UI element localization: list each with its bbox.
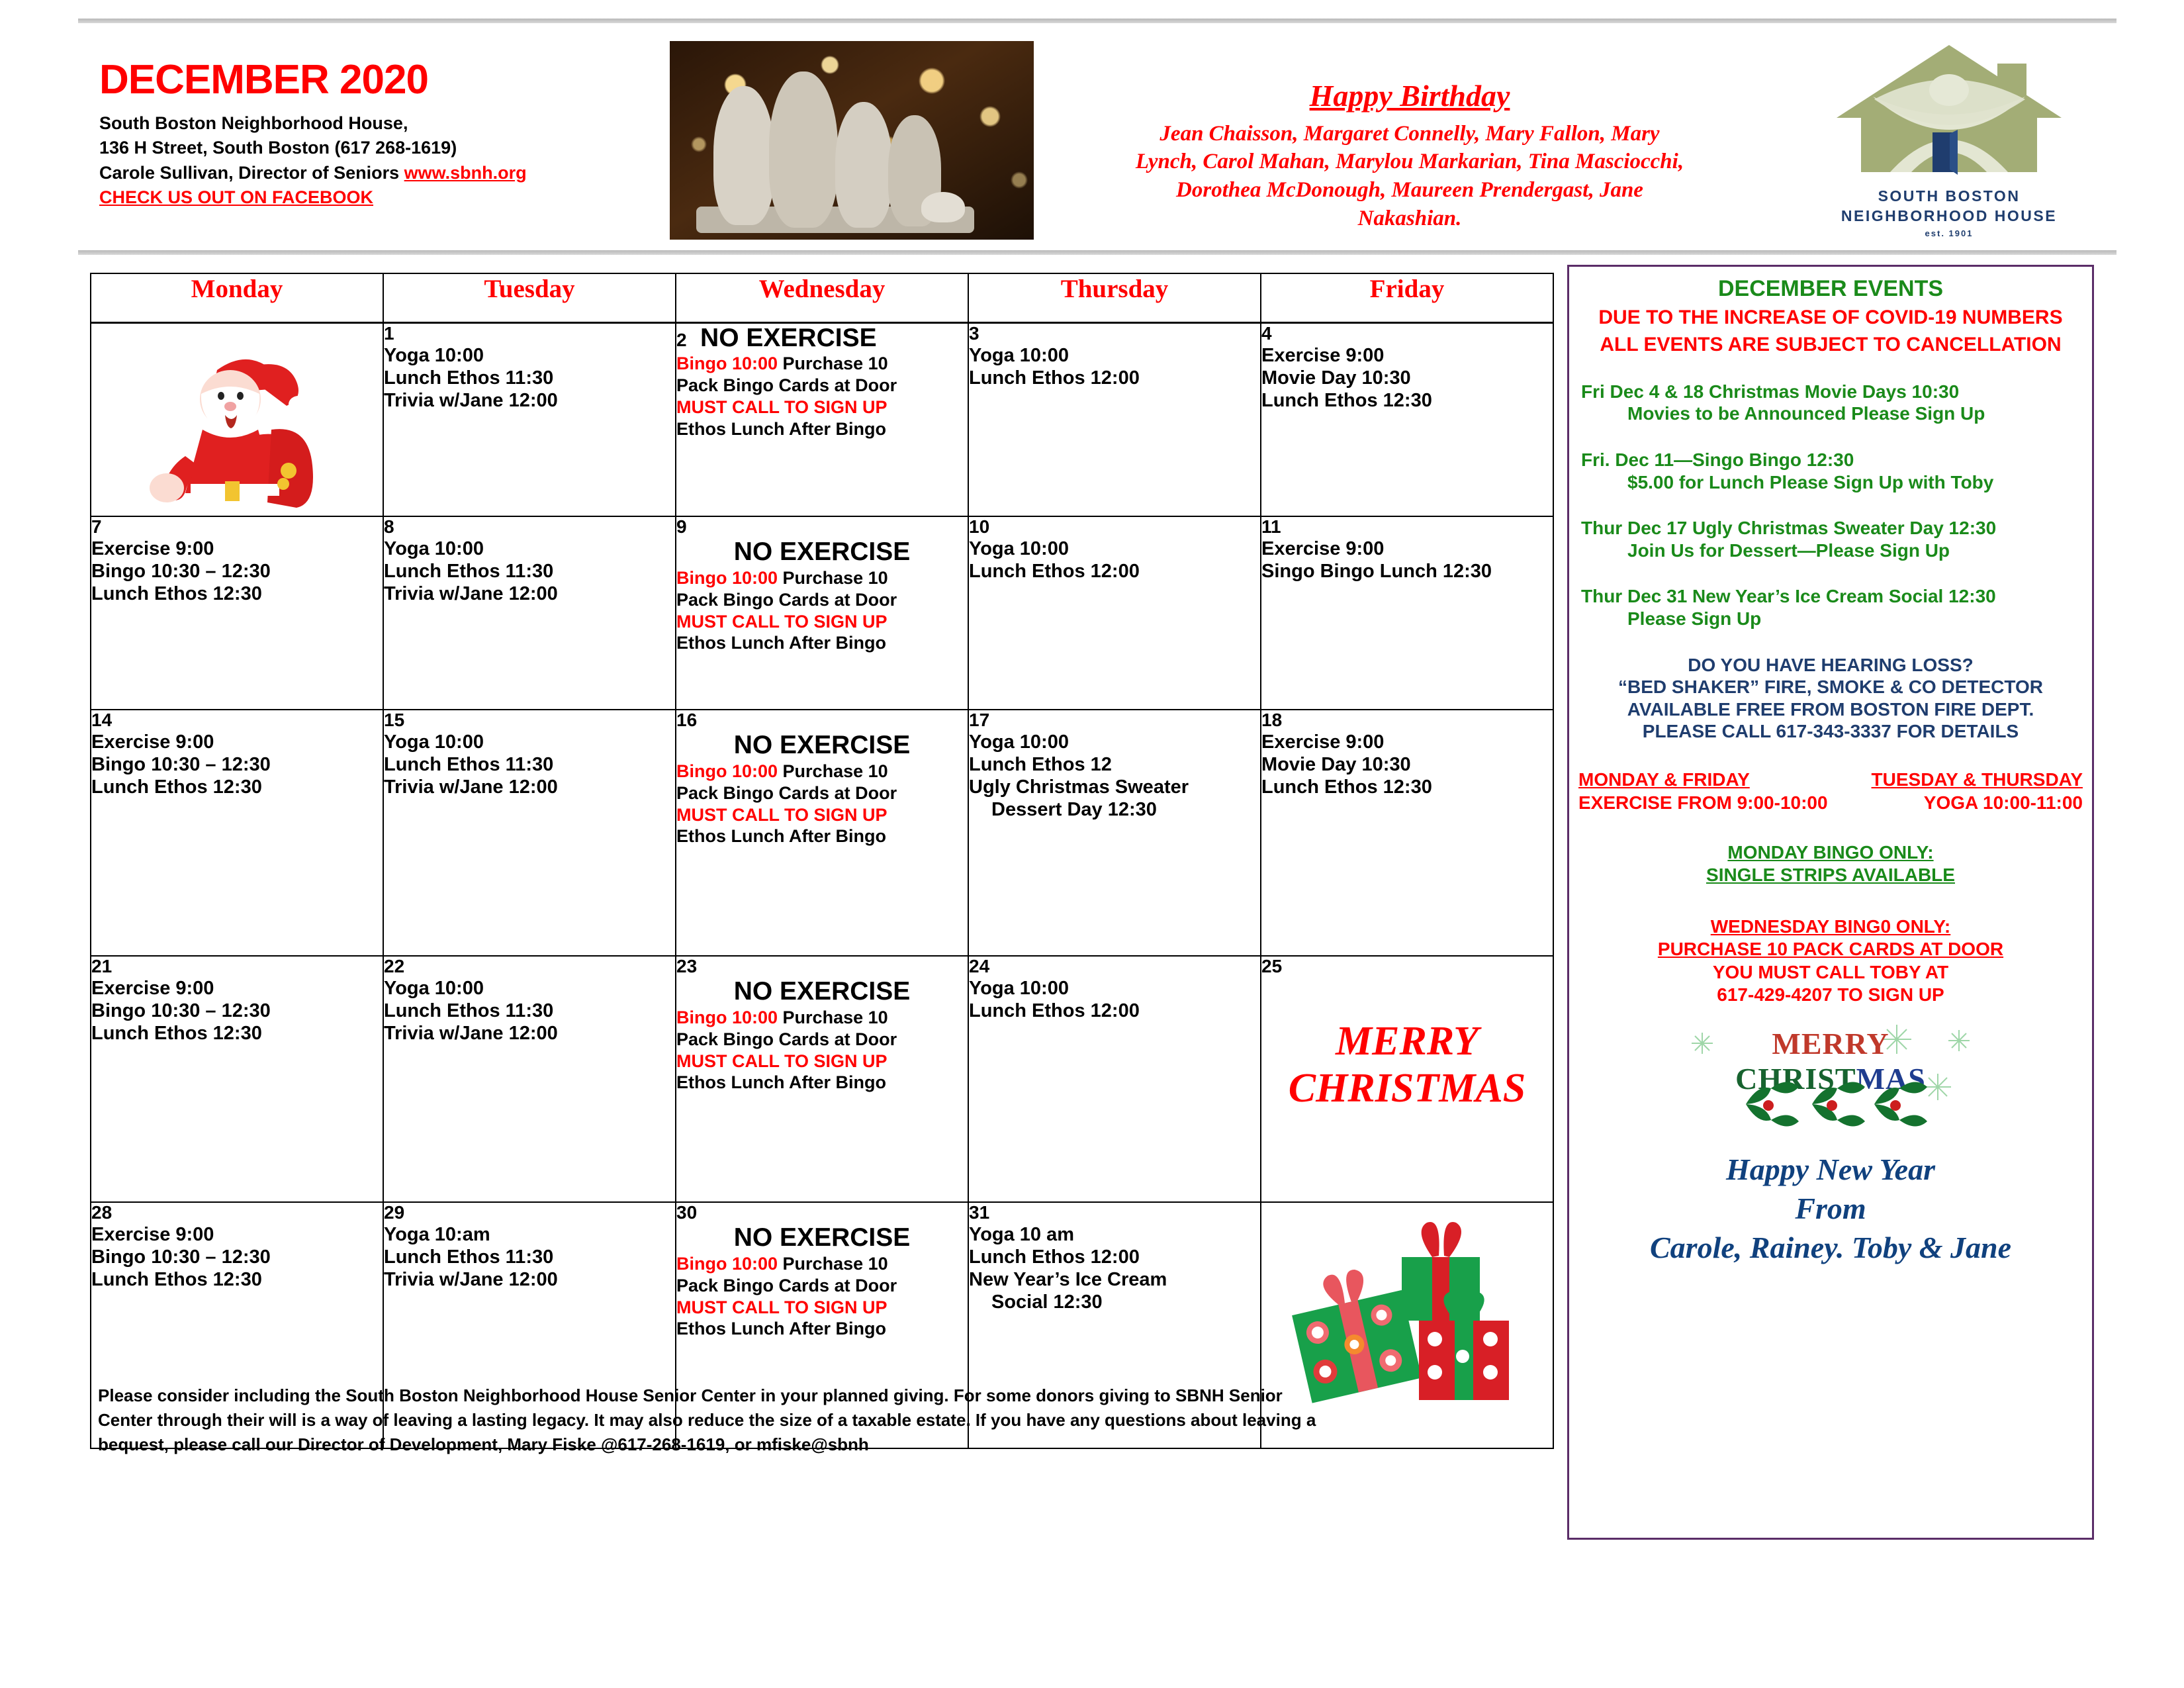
new-years-event: Thur Dec 31 New Year’s Ice Cream Social … bbox=[1569, 585, 2092, 630]
calendar-week-row: 21 Exercise 9:00 Bingo 10:30 – 12:30 Lun… bbox=[91, 956, 1553, 1202]
hearing-line1: DO YOU HAVE HEARING LOSS? bbox=[1581, 654, 2080, 677]
calendar-header-row: Monday Tuesday Wednesday Thursday Friday bbox=[91, 273, 1553, 323]
day-number: 14 bbox=[91, 710, 383, 731]
event-text: Exercise 9:00 bbox=[91, 977, 383, 1000]
wednesday-bingo-line1: WEDNESDAY BING0 ONLY: bbox=[1711, 916, 1951, 937]
wednesday-bingo-line3: YOU MUST CALL TOBY AT bbox=[1569, 961, 2092, 984]
event-text: Lunch Ethos 11:30 bbox=[384, 1246, 675, 1268]
ugly-sweater-line1: Thur Dec 17 Ugly Christmas Sweater Day 1… bbox=[1581, 517, 2080, 539]
day-number: 9 bbox=[676, 517, 968, 538]
hny-line2: From bbox=[1569, 1190, 2092, 1229]
day-number: 10 bbox=[969, 517, 1260, 538]
wednesday-bingo-line2: PURCHASE 10 PACK CARDS AT DOOR bbox=[1658, 939, 2003, 959]
calendar-table: Monday Tuesday Wednesday Thursday Friday bbox=[90, 273, 1554, 1449]
house-logo-icon bbox=[1827, 33, 2071, 185]
logo-text-line1: SOUTH BOSTON bbox=[1827, 187, 2071, 205]
birthday-name-line: Lynch, Carol Mahan, Marylou Markarian, T… bbox=[1059, 148, 1760, 176]
logo-text-line2: NEIGHBORHOOD HOUSE bbox=[1827, 207, 2071, 225]
event-text: Bingo 10:30 – 12:30 bbox=[91, 1000, 383, 1022]
nativity-photo bbox=[670, 41, 1034, 240]
wednesday-bingo-line4: 617-429-4207 TO SIGN UP bbox=[1569, 984, 2092, 1006]
header-divider-top bbox=[78, 19, 2116, 23]
event-text: Trivia w/Jane 12:00 bbox=[384, 583, 675, 605]
day-number: 23 bbox=[676, 957, 968, 977]
must-call-line: MUST CALL TO SIGN UP bbox=[676, 397, 968, 418]
december-events-panel: DECEMBER EVENTS DUE TO THE INCREASE OF C… bbox=[1567, 265, 2094, 1540]
monday-bingo-note: MONDAY BINGO ONLY: SINGLE STRIPS AVAILAB… bbox=[1569, 841, 2092, 886]
movie-days-line2: Movies to be Announced Please Sign Up bbox=[1581, 402, 2080, 425]
event-text: Exercise 9:00 bbox=[1261, 538, 1553, 560]
bingo-cards-line: Pack Bingo Cards at Door bbox=[676, 375, 968, 397]
bingo-cards-line: Pack Bingo Cards at Door bbox=[676, 1275, 968, 1297]
event-text: Bingo 10:30 – 12:30 bbox=[91, 1246, 383, 1268]
day-number: 4 bbox=[1261, 324, 1553, 344]
calendar-cell-day-7[interactable]: 7 Exercise 9:00 Bingo 10:30 – 12:30 Lunc… bbox=[91, 516, 383, 710]
class-schedule-values: EXERCISE FROM 9:00-10:00 YOGA 10:00-11:0… bbox=[1578, 792, 2083, 814]
holly-icon bbox=[1731, 1075, 1930, 1132]
bingo-cards-line: Pack Bingo Cards at Door bbox=[676, 782, 968, 804]
calendar-week-row: 7 Exercise 9:00 Bingo 10:30 – 12:30 Lunc… bbox=[91, 516, 1553, 710]
event-text: Exercise 9:00 bbox=[1261, 731, 1553, 753]
wednesday-bingo-note: WEDNESDAY BING0 ONLY: PURCHASE 10 PACK C… bbox=[1569, 915, 2092, 1006]
day-number: 11 bbox=[1261, 517, 1553, 538]
org-director: Carole Sullivan, Director of Seniors bbox=[99, 163, 404, 183]
no-exercise-label: NO EXERCISE bbox=[700, 324, 877, 352]
day-number: 2 bbox=[676, 330, 687, 350]
event-text: Yoga 10:00 bbox=[384, 538, 675, 560]
birthday-block: Happy Birthday Jean Chaisson, Margaret C… bbox=[1059, 79, 1760, 233]
day-header-tuesday: Tuesday bbox=[383, 273, 676, 323]
calendar-cell-day-11[interactable]: 11 Exercise 9:00 Singo Bingo Lunch 12:30 bbox=[1261, 516, 1553, 710]
merry-christmas-text: MERRY CHRISTMAS bbox=[1261, 1018, 1553, 1113]
day-number: 18 bbox=[1261, 710, 1553, 731]
event-text: Exercise 9:00 bbox=[91, 1223, 383, 1246]
event-text: Yoga 10:00 bbox=[384, 731, 675, 753]
org-info: South Boston Neighborhood House, 136 H S… bbox=[99, 111, 735, 210]
hearing-loss-notice: DO YOU HAVE HEARING LOSS? “BED SHAKER” F… bbox=[1569, 654, 2092, 743]
event-text: Lunch Ethos 12:30 bbox=[91, 1268, 383, 1291]
bingo-line: Bingo 10:00 Purchase 10 bbox=[676, 761, 968, 782]
covid-notice-line2: ALL EVENTS ARE SUBJECT TO CANCELLATION bbox=[1569, 333, 2092, 356]
schedule-mon-fri-label: MONDAY & FRIDAY bbox=[1578, 769, 1750, 790]
day-header-wednesday: Wednesday bbox=[676, 273, 968, 323]
event-text: Yoga 10 am bbox=[969, 1223, 1260, 1246]
singo-bingo-line1: Fri. Dec 11—Singo Bingo 12:30 bbox=[1581, 449, 2080, 471]
hearing-line3: AVAILABLE FREE FROM BOSTON FIRE DEPT. bbox=[1581, 698, 2080, 721]
monday-bingo-line1: MONDAY BINGO ONLY: bbox=[1727, 842, 1933, 863]
event-text: Exercise 9:00 bbox=[1261, 344, 1553, 367]
ugly-sweater-line2: Join Us for Dessert—Please Sign Up bbox=[1581, 539, 2080, 562]
calendar-cell-day-22[interactable]: 22 Yoga 10:00 Lunch Ethos 11:30 Trivia w… bbox=[383, 956, 676, 1202]
event-text: Yoga 10:00 bbox=[384, 977, 675, 1000]
calendar-cell-day-8[interactable]: 8 Yoga 10:00 Lunch Ethos 11:30 Trivia w/… bbox=[383, 516, 676, 710]
bingo-purchase: Purchase 10 bbox=[778, 1254, 888, 1274]
bingo-time: Bingo 10:00 bbox=[676, 568, 778, 588]
bingo-line: Bingo 10:00 Purchase 10 bbox=[676, 1253, 968, 1275]
planned-giving-note: Please consider including the South Bost… bbox=[98, 1383, 1541, 1457]
day-number: 17 bbox=[969, 710, 1260, 731]
event-text: Trivia w/Jane 12:00 bbox=[384, 1022, 675, 1045]
ethos-lunch-line: Ethos Lunch After Bingo bbox=[676, 418, 968, 440]
day-header-thursday: Thursday bbox=[968, 273, 1261, 323]
covid-notice-line1: DUE TO THE INCREASE OF COVID-19 NUMBERS bbox=[1569, 306, 2092, 329]
bingo-time: Bingo 10:00 bbox=[676, 1254, 778, 1274]
new-years-line2: Please Sign Up bbox=[1581, 608, 2080, 630]
must-call-line: MUST CALL TO SIGN UP bbox=[676, 1297, 968, 1319]
birthday-title: Happy Birthday bbox=[1059, 79, 1760, 113]
calendar-cell-day-2[interactable]: 2 NO EXERCISE Bingo 10:00 Purchase 10 Pa… bbox=[676, 323, 968, 517]
calendar-cell-day-4[interactable]: 4 Exercise 9:00 Movie Day 10:30 Lunch Et… bbox=[1261, 323, 1553, 517]
bingo-purchase: Purchase 10 bbox=[778, 568, 888, 588]
day-number: 8 bbox=[384, 517, 675, 538]
day-number: 30 bbox=[676, 1203, 968, 1223]
events-panel-title: DECEMBER EVENTS bbox=[1569, 276, 2092, 302]
day-number: 21 bbox=[91, 957, 383, 977]
logo-text-est: est. 1901 bbox=[1827, 228, 2071, 238]
calendar-cell-day-24[interactable]: 24 Yoga 10:00 Lunch Ethos 12:00 bbox=[968, 956, 1261, 1202]
event-text: Lunch Ethos 12:30 bbox=[91, 776, 383, 798]
event-text: Lunch Ethos 12:30 bbox=[1261, 776, 1553, 798]
calendar-cell-day-21[interactable]: 21 Exercise 9:00 Bingo 10:30 – 12:30 Lun… bbox=[91, 956, 383, 1202]
planned-giving-line: Please consider including the South Bost… bbox=[98, 1383, 1541, 1408]
bingo-time: Bingo 10:00 bbox=[676, 761, 778, 781]
bingo-time: Bingo 10:00 bbox=[676, 353, 778, 373]
event-text: Bingo 10:30 – 12:30 bbox=[91, 753, 383, 776]
event-text: Bingo 10:30 – 12:30 bbox=[91, 560, 383, 583]
event-text: Lunch Ethos 12:00 bbox=[969, 1000, 1260, 1022]
day-number: 16 bbox=[676, 710, 968, 731]
birthday-name-line: Nakashian. bbox=[1059, 205, 1760, 233]
bingo-purchase: Purchase 10 bbox=[778, 761, 888, 781]
no-exercise-label: NO EXERCISE bbox=[676, 538, 968, 567]
no-exercise-label: NO EXERCISE bbox=[676, 977, 968, 1007]
birthday-name-line: Jean Chaisson, Margaret Connelly, Mary F… bbox=[1059, 120, 1760, 148]
calendar-cell-day-9[interactable]: 9 NO EXERCISE Bingo 10:00 Purchase 10 Pa… bbox=[676, 516, 968, 710]
day-header-friday: Friday bbox=[1261, 273, 1553, 323]
event-text: Lunch Ethos 12 bbox=[969, 753, 1260, 776]
schedule-yoga-time: YOGA 10:00-11:00 bbox=[1924, 792, 2083, 814]
schedule-tue-thu-label: TUESDAY & THURSDAY bbox=[1872, 769, 2083, 790]
bingo-line: Bingo 10:00 Purchase 10 bbox=[676, 353, 968, 375]
nativity-figure-icon bbox=[713, 86, 774, 225]
day-number: 7 bbox=[91, 517, 383, 538]
event-text: Lunch Ethos 11:30 bbox=[384, 1000, 675, 1022]
event-text: Social 12:30 bbox=[969, 1291, 1260, 1313]
event-text: Lunch Ethos 12:30 bbox=[91, 1022, 383, 1045]
must-call-line: MUST CALL TO SIGN UP bbox=[676, 611, 968, 633]
calendar-cell-day-1[interactable]: 1 Yoga 10:00 Lunch Ethos 11:30 Trivia w/… bbox=[383, 323, 676, 517]
event-text: Lunch Ethos 11:30 bbox=[384, 753, 675, 776]
bingo-purchase: Purchase 10 bbox=[778, 1008, 888, 1027]
no-exercise-heading-inline: 2 NO EXERCISE bbox=[676, 324, 968, 353]
event-text: Lunch Ethos 12:00 bbox=[969, 560, 1260, 583]
bingo-time: Bingo 10:00 bbox=[676, 1008, 778, 1027]
no-exercise-label: NO EXERCISE bbox=[676, 1223, 968, 1253]
org-director-line: Carole Sullivan, Director of Seniors www… bbox=[99, 161, 735, 185]
merry-line-2: CHRISTMAS bbox=[1261, 1065, 1553, 1112]
bingo-line: Bingo 10:00 Purchase 10 bbox=[676, 1007, 968, 1029]
calendar-cell-day-25[interactable]: 25 MERRY CHRISTMAS bbox=[1261, 956, 1553, 1202]
event-text: Yoga 10:00 bbox=[384, 344, 675, 367]
singo-bingo-event: Fri. Dec 11—Singo Bingo 12:30 $5.00 for … bbox=[1569, 449, 2092, 493]
sbnh-logo: SOUTH BOSTON NEIGHBORHOOD HOUSE est. 190… bbox=[1827, 33, 2071, 238]
calendar-cell-day-17[interactable]: 17 Yoga 10:00 Lunch Ethos 12 Ugly Christ… bbox=[968, 710, 1261, 956]
org-name: South Boston Neighborhood House, bbox=[99, 111, 735, 136]
calendar-cell-day-23[interactable]: 23 NO EXERCISE Bingo 10:00 Purchase 10 P… bbox=[676, 956, 968, 1202]
event-text: New Year’s Ice Cream bbox=[969, 1268, 1260, 1291]
day-number: 1 bbox=[384, 324, 675, 344]
calendar-cell-day-16[interactable]: 16 NO EXERCISE Bingo 10:00 Purchase 10 P… bbox=[676, 710, 968, 956]
class-schedule-block: MONDAY & FRIDAY TUESDAY & THURSDAY EXERC… bbox=[1569, 769, 2092, 814]
event-text: Exercise 9:00 bbox=[91, 731, 383, 753]
nativity-figure-icon bbox=[835, 102, 892, 228]
ethos-lunch-line: Ethos Lunch After Bingo bbox=[676, 825, 968, 847]
no-exercise-label: NO EXERCISE bbox=[676, 731, 968, 761]
hearing-line4: PLEASE CALL 617-343-3337 FOR DETAILS bbox=[1581, 720, 2080, 743]
day-number: 28 bbox=[91, 1203, 383, 1223]
nativity-figure-icon bbox=[769, 71, 838, 228]
ugly-sweater-event: Thur Dec 17 Ugly Christmas Sweater Day 1… bbox=[1569, 517, 2092, 561]
event-text: Lunch Ethos 12:00 bbox=[969, 1246, 1260, 1268]
planned-giving-line: bequest, please call our Director of Dev… bbox=[98, 1432, 1541, 1457]
santa-icon bbox=[124, 330, 323, 509]
facebook-link[interactable]: CHECK US OUT ON FACEBOOK bbox=[99, 187, 373, 207]
event-text: Yoga 10:00 bbox=[969, 344, 1260, 367]
schedule-exercise-time: EXERCISE FROM 9:00-10:00 bbox=[1578, 792, 1828, 814]
class-schedule-labels: MONDAY & FRIDAY TUESDAY & THURSDAY bbox=[1578, 769, 2083, 790]
day-number: 22 bbox=[384, 957, 675, 977]
event-text: Exercise 9:00 bbox=[91, 538, 383, 560]
ethos-lunch-line: Ethos Lunch After Bingo bbox=[676, 1318, 968, 1340]
calendar-cell-blank-mon[interactable] bbox=[91, 323, 383, 517]
new-years-line1: Thur Dec 31 New Year’s Ice Cream Social … bbox=[1581, 585, 2080, 608]
event-text: Lunch Ethos 12:30 bbox=[1261, 389, 1553, 412]
bingo-cards-line: Pack Bingo Cards at Door bbox=[676, 589, 968, 611]
day-number: 25 bbox=[1261, 957, 1553, 977]
monday-bingo-line2: SINGLE STRIPS AVAILABLE bbox=[1706, 865, 1955, 885]
calendar-page: DECEMBER 2020 South Boston Neighborhood … bbox=[0, 0, 2184, 1688]
singo-bingo-line2: $5.00 for Lunch Please Sign Up with Toby bbox=[1581, 471, 2080, 494]
happy-new-year-message: Happy New Year From Carole, Rainey. Toby… bbox=[1569, 1150, 2092, 1268]
event-text: Yoga 10:am bbox=[384, 1223, 675, 1246]
ethos-lunch-line: Ethos Lunch After Bingo bbox=[676, 632, 968, 654]
hearing-line2: “BED SHAKER” FIRE, SMOKE & CO DETECTOR bbox=[1581, 676, 2080, 698]
calendar-week-row: 14 Exercise 9:00 Bingo 10:30 – 12:30 Lun… bbox=[91, 710, 1553, 956]
day-number: 24 bbox=[969, 957, 1260, 977]
event-text: Trivia w/Jane 12:00 bbox=[384, 776, 675, 798]
event-text: Yoga 10:00 bbox=[969, 977, 1260, 1000]
movie-days-event: Fri Dec 4 & 18 Christmas Movie Days 10:3… bbox=[1569, 381, 2092, 425]
calendar-week-row: 1 Yoga 10:00 Lunch Ethos 11:30 Trivia w/… bbox=[91, 323, 1553, 517]
bingo-cards-line: Pack Bingo Cards at Door bbox=[676, 1029, 968, 1051]
nativity-lamb-icon bbox=[921, 192, 965, 222]
event-text: Movie Day 10:30 bbox=[1261, 753, 1553, 776]
hny-line1: Happy New Year bbox=[1569, 1150, 2092, 1190]
event-text: Trivia w/Jane 12:00 bbox=[384, 1268, 675, 1291]
event-text: Lunch Ethos 11:30 bbox=[384, 560, 675, 583]
ethos-lunch-line: Ethos Lunch After Bingo bbox=[676, 1072, 968, 1094]
planned-giving-line: Center through their will is a way of le… bbox=[98, 1408, 1541, 1432]
event-text: Singo Bingo Lunch 12:30 bbox=[1261, 560, 1553, 583]
event-text: Lunch Ethos 11:30 bbox=[384, 367, 675, 389]
header-left-block: DECEMBER 2020 South Boston Neighborhood … bbox=[99, 60, 735, 210]
page-title: DECEMBER 2020 bbox=[99, 60, 735, 101]
bingo-purchase: Purchase 10 bbox=[778, 353, 888, 373]
merry-line-1: MERRY bbox=[1261, 1018, 1553, 1065]
org-address: 136 H Street, South Boston (617 268-1619… bbox=[99, 136, 735, 160]
bingo-line: Bingo 10:00 Purchase 10 bbox=[676, 567, 968, 589]
event-text: Ugly Christmas Sweater bbox=[969, 776, 1260, 798]
calendar-cell-day-18[interactable]: 18 Exercise 9:00 Movie Day 10:30 Lunch E… bbox=[1261, 710, 1553, 956]
movie-days-line1: Fri Dec 4 & 18 Christmas Movie Days 10:3… bbox=[1581, 381, 2080, 403]
event-text: Lunch Ethos 12:00 bbox=[969, 367, 1260, 389]
day-number: 3 bbox=[969, 324, 1260, 344]
event-text: Yoga 10:00 bbox=[969, 538, 1260, 560]
birthday-names: Jean Chaisson, Margaret Connelly, Mary F… bbox=[1059, 120, 1760, 234]
calendar-cell-day-3[interactable]: 3 Yoga 10:00 Lunch Ethos 12:00 bbox=[968, 323, 1261, 517]
day-number: 15 bbox=[384, 710, 675, 731]
gift-boxes-icon bbox=[1281, 1209, 1533, 1408]
event-text: Dessert Day 12:30 bbox=[969, 798, 1260, 821]
day-header-monday: Monday bbox=[91, 273, 383, 323]
must-call-line: MUST CALL TO SIGN UP bbox=[676, 804, 968, 826]
website-link[interactable]: www.sbnh.org bbox=[404, 163, 527, 183]
calendar-cell-day-10[interactable]: 10 Yoga 10:00 Lunch Ethos 12:00 bbox=[968, 516, 1261, 710]
birthday-name-line: Dorothea McDonough, Maureen Prendergast,… bbox=[1059, 176, 1760, 205]
hny-line3: Carole, Rainey. Toby & Jane bbox=[1569, 1229, 2092, 1268]
calendar-cell-day-14[interactable]: 14 Exercise 9:00 Bingo 10:30 – 12:30 Lun… bbox=[91, 710, 383, 956]
day-number: 31 bbox=[969, 1203, 1260, 1223]
event-text: Trivia w/Jane 12:00 bbox=[384, 389, 675, 412]
day-number: 29 bbox=[384, 1203, 675, 1223]
calendar-cell-day-15[interactable]: 15 Yoga 10:00 Lunch Ethos 11:30 Trivia w… bbox=[383, 710, 676, 956]
event-text: Yoga 10:00 bbox=[969, 731, 1260, 753]
event-text: Movie Day 10:30 bbox=[1261, 367, 1553, 389]
merry-christmas-graphic: MERRY CHRISTMAS bbox=[1678, 1023, 1983, 1136]
header-divider-bottom bbox=[78, 250, 2116, 255]
event-text: Lunch Ethos 12:30 bbox=[91, 583, 383, 605]
must-call-line: MUST CALL TO SIGN UP bbox=[676, 1051, 968, 1072]
